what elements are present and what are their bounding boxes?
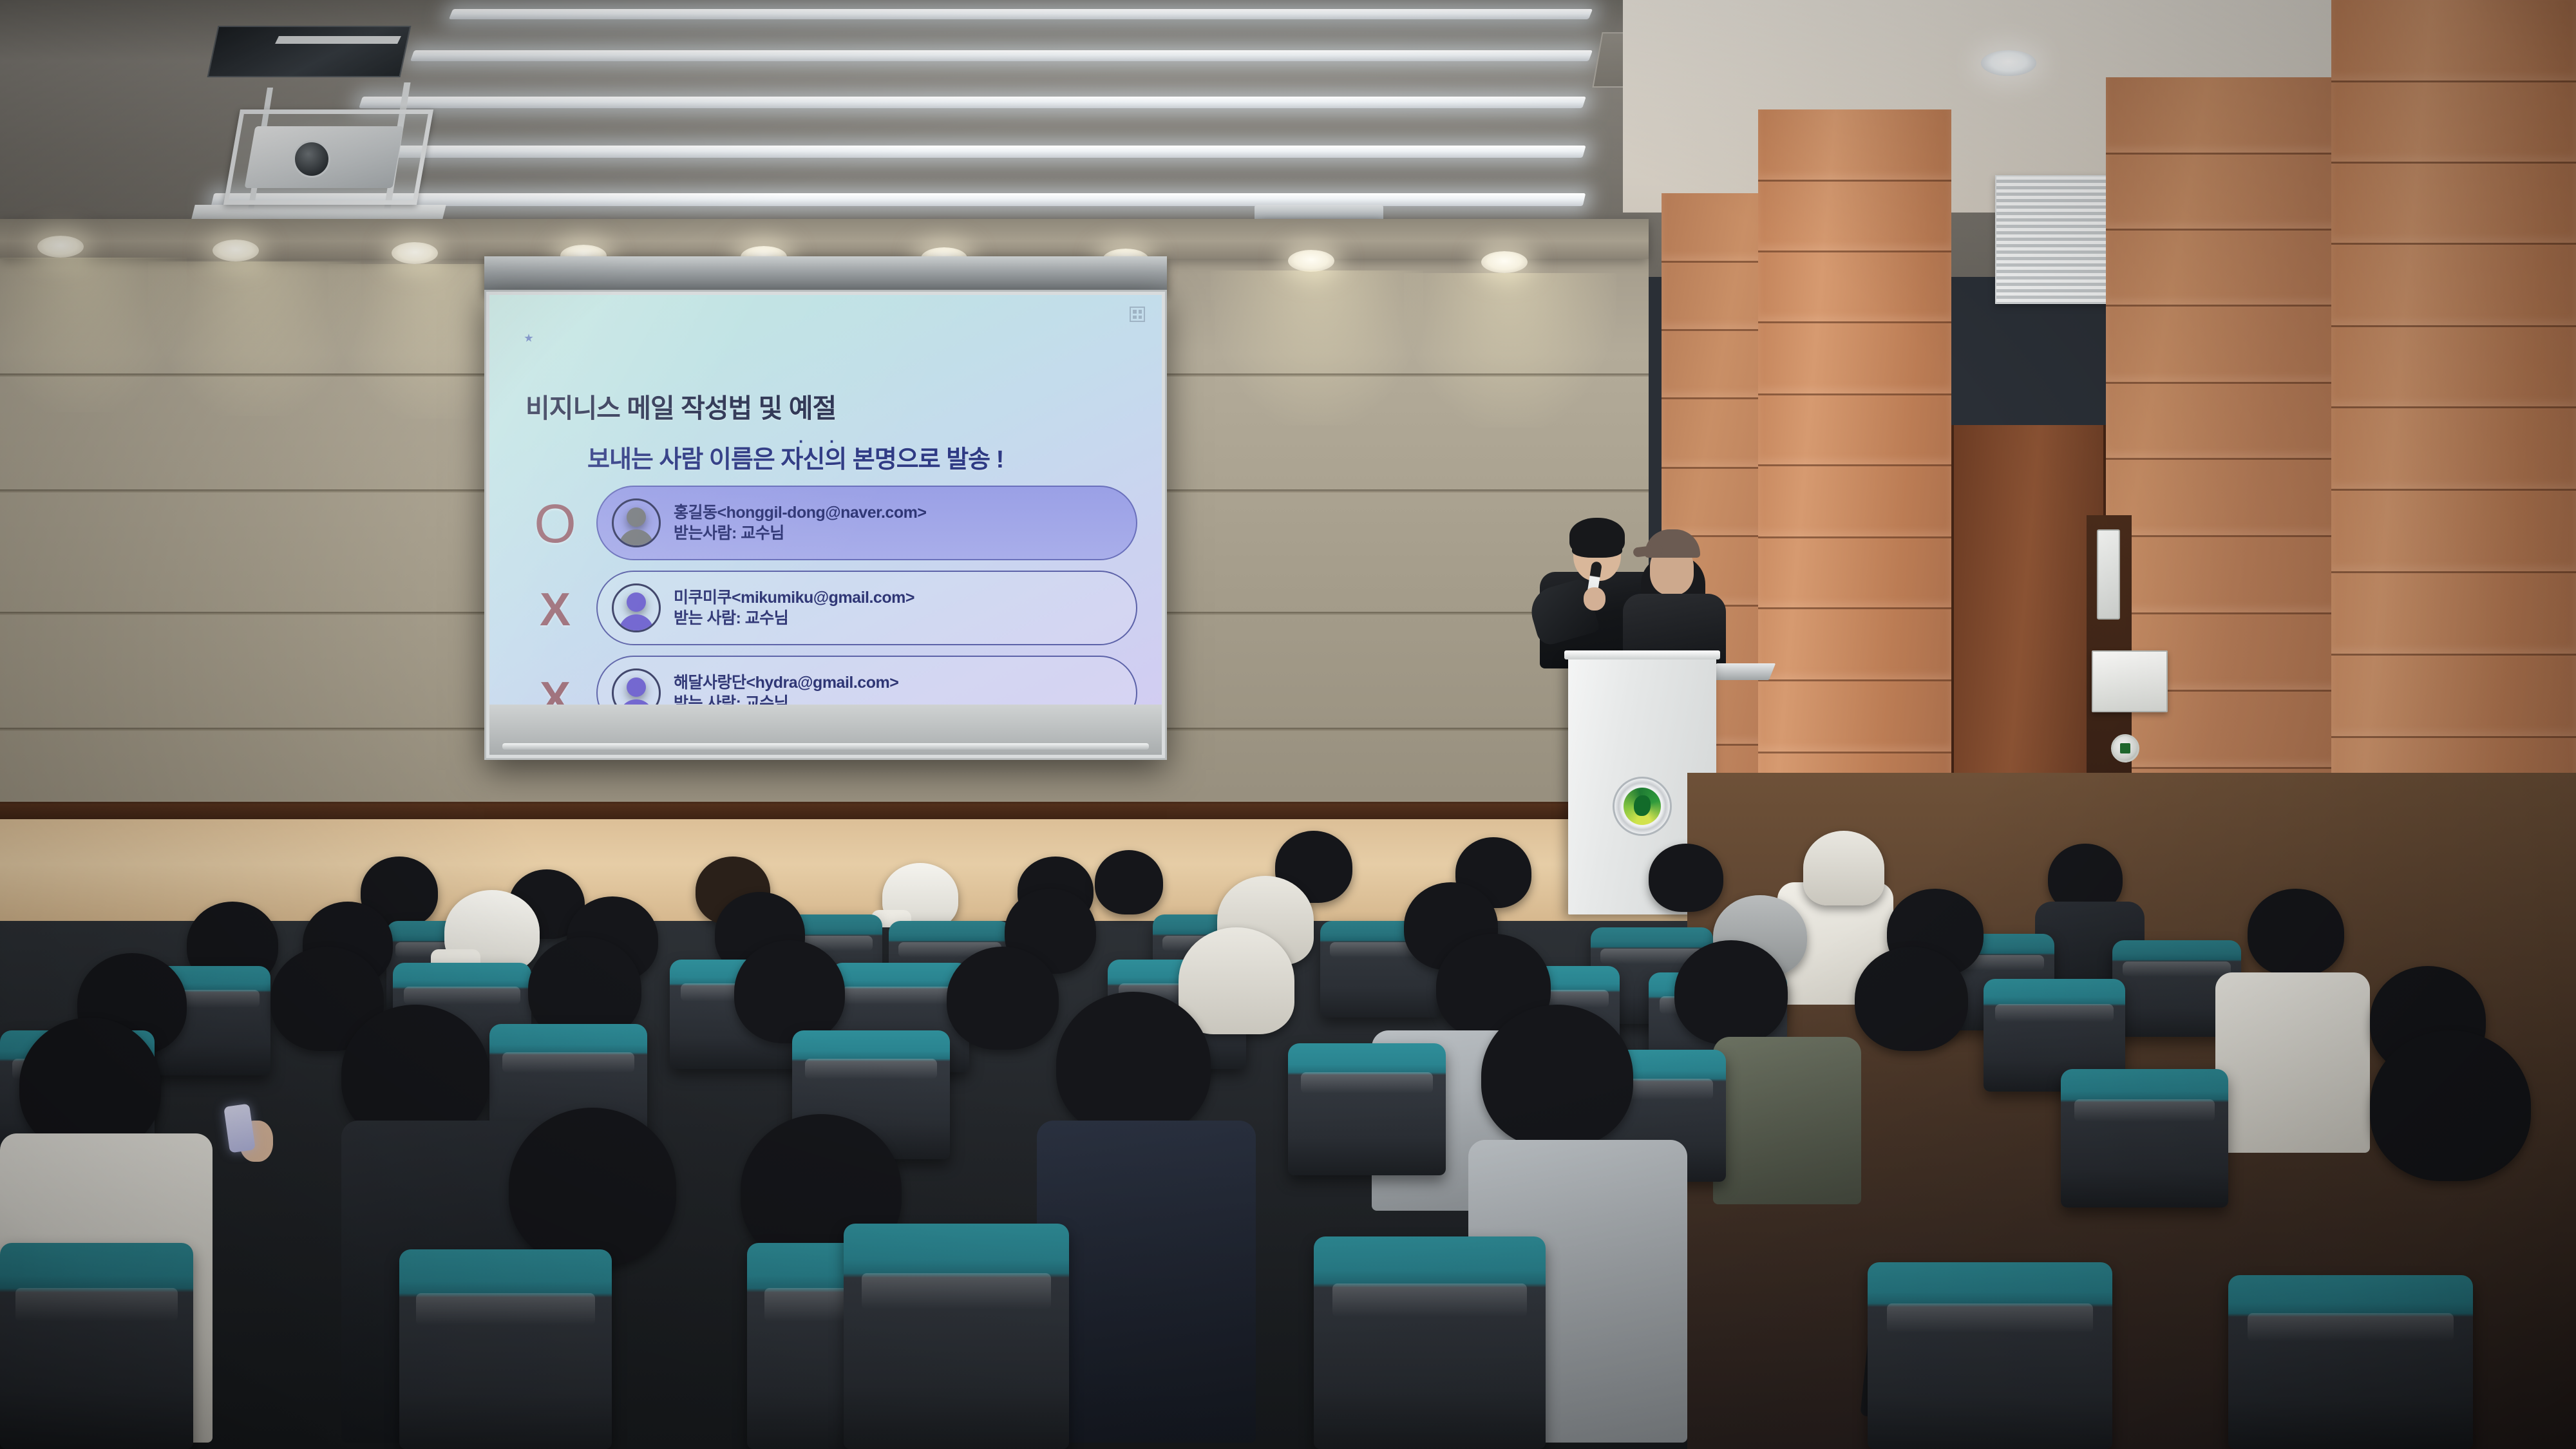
screen-bottom-bar bbox=[489, 705, 1162, 755]
podium-top bbox=[1564, 650, 1720, 659]
presentation-slide: 비지니스 메일 작성법 및 예절 · · 보내는 사람 이름은 자신의 본명으로… bbox=[489, 295, 1162, 707]
audience-head bbox=[734, 940, 845, 1043]
mail-row-list: 홍길동<honggil-dong@naver.com> 받는사람: 교수님 미쿠… bbox=[596, 486, 1137, 707]
avatar-icon bbox=[612, 668, 661, 707]
mail-text: 홍길동<honggil-dong@naver.com> 받는사람: 교수님 bbox=[674, 502, 926, 544]
screen-housing bbox=[484, 256, 1167, 295]
projector-lens bbox=[293, 140, 330, 178]
mark-good: O bbox=[520, 486, 590, 562]
audience-head-hood bbox=[1803, 831, 1884, 905]
audience-head bbox=[19, 1018, 161, 1153]
mail-row: 해달사랑단<hydra@gmail.com> 받는 사람: 교수님 bbox=[596, 656, 1137, 707]
avatar-icon bbox=[612, 498, 661, 547]
mail-text: 미쿠미쿠<mikumiku@gmail.com> 받는 사람: 교수님 bbox=[674, 587, 914, 629]
auditorium-seat[interactable] bbox=[844, 1224, 1069, 1449]
mail-sender: 해달사랑단<hydra@gmail.com> bbox=[674, 672, 898, 693]
wall-control-panel[interactable] bbox=[2097, 529, 2120, 620]
screen-weight-bar bbox=[502, 743, 1149, 750]
auditorium-seat[interactable] bbox=[1288, 1043, 1446, 1175]
auditorium-seat[interactable] bbox=[0, 1243, 193, 1449]
mail-row: 홍길동<honggil-dong@naver.com> 받는사람: 교수님 bbox=[596, 486, 1137, 560]
projector-ceiling-arm bbox=[275, 36, 401, 44]
projection-screen: 비지니스 메일 작성법 및 예절 · · 보내는 사람 이름은 자신의 본명으로… bbox=[484, 290, 1167, 760]
presenter-hand bbox=[1584, 587, 1605, 611]
audience-head bbox=[2248, 889, 2344, 976]
audience-head-cap bbox=[882, 863, 958, 930]
soffit-downlight bbox=[37, 236, 84, 258]
stage-trim bbox=[0, 804, 1752, 820]
mail-recipient: 받는사람: 교수님 bbox=[674, 523, 926, 544]
ceiling-strip-light bbox=[359, 97, 1586, 108]
audience-head-cap bbox=[444, 890, 540, 974]
audience-coat bbox=[2215, 972, 2370, 1153]
audience-head bbox=[1649, 844, 1723, 912]
audience-head bbox=[947, 947, 1059, 1050]
avatar-icon bbox=[612, 583, 661, 632]
podium-laptop[interactable] bbox=[1710, 663, 1776, 680]
ceiling-strip-light bbox=[449, 9, 1593, 19]
mark-bad-2: X bbox=[520, 661, 590, 707]
auditorium-seat[interactable] bbox=[1314, 1236, 1546, 1449]
ceiling-strip-light bbox=[410, 50, 1593, 61]
soffit-downlight bbox=[392, 242, 438, 264]
audience-head bbox=[509, 1108, 676, 1266]
audience-head-hood bbox=[1179, 927, 1294, 1034]
ceiling-air-vent bbox=[207, 26, 411, 77]
wood-pillar bbox=[1758, 109, 1951, 869]
mail-sender: 홍길동<honggil-dong@naver.com> bbox=[674, 502, 926, 523]
audience-head bbox=[1481, 1005, 1633, 1148]
audience-head bbox=[2370, 1030, 2531, 1181]
mail-sender: 미쿠미쿠<mikumiku@gmail.com> bbox=[674, 587, 914, 608]
slide-title: 비지니스 메일 작성법 및 예절 bbox=[526, 386, 836, 425]
presenter-second bbox=[1623, 529, 1726, 671]
recessed-downlight bbox=[1981, 50, 2036, 76]
mail-text: 해달사랑단<hydra@gmail.com> 받는 사람: 교수님 bbox=[674, 672, 898, 707]
grid-icon bbox=[1130, 307, 1145, 322]
auditorium-seat[interactable] bbox=[399, 1249, 612, 1449]
audience-head bbox=[1855, 947, 1968, 1051]
paper-holder[interactable] bbox=[2092, 650, 2168, 712]
emblem-crest-icon bbox=[1624, 788, 1661, 825]
projector-mount-plate bbox=[191, 205, 446, 219]
audience-head bbox=[1674, 940, 1788, 1045]
auditorium-seat[interactable] bbox=[2228, 1275, 2473, 1449]
ceiling-strip-light bbox=[301, 146, 1586, 158]
mark-column: O X X bbox=[520, 486, 590, 707]
sparkle-icon bbox=[524, 334, 533, 343]
mail-recipient: 받는 사람: 교수님 bbox=[674, 608, 914, 629]
auditorium-seat[interactable] bbox=[1868, 1262, 2112, 1449]
audience-head bbox=[1095, 850, 1163, 914]
mail-row: 미쿠미쿠<mikumiku@gmail.com> 받는 사람: 교수님 bbox=[596, 571, 1137, 645]
auditorium-seat[interactable] bbox=[2061, 1069, 2228, 1207]
university-emblem bbox=[1613, 777, 1672, 836]
audience-coat bbox=[1713, 1037, 1861, 1204]
slide-subtitle: 보내는 사람 이름은 자신의 본명으로 발송 ! bbox=[587, 439, 1003, 475]
soffit-downlight bbox=[213, 240, 259, 261]
mark-bad-1: X bbox=[520, 572, 590, 648]
soffit-downlight bbox=[1481, 251, 1528, 273]
auditorium-photo: 비지니스 메일 작성법 및 예절 · · 보내는 사람 이름은 자신의 본명으로… bbox=[0, 0, 2576, 1449]
soffit-downlight bbox=[1288, 250, 1334, 272]
emergency-exit-indicator[interactable] bbox=[2111, 734, 2139, 762]
audience-head bbox=[1056, 992, 1211, 1137]
presenter-hair bbox=[1569, 518, 1625, 555]
cap-icon bbox=[1645, 529, 1700, 558]
audience-coat bbox=[1037, 1121, 1256, 1443]
